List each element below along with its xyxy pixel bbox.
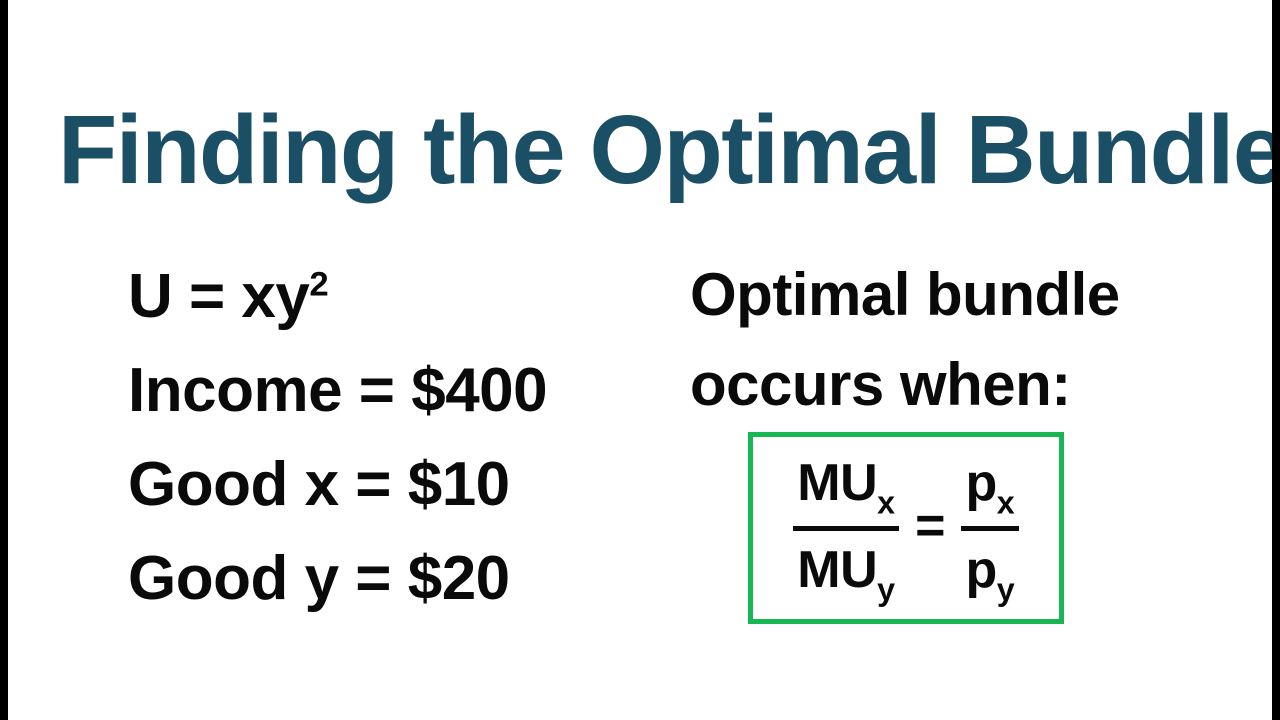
given-text: U = xy (128, 262, 309, 331)
mu-x-subscript: x (877, 484, 895, 520)
list-item: Good y = $20 (128, 532, 648, 626)
mu-x-base: MU (797, 454, 877, 512)
optimality-condition-box: MUx MUy = px py (748, 432, 1064, 624)
slide-canvas: Finding the Optimal Bundle U = xy2 Incom… (0, 0, 1280, 720)
slide-body: U = xy2 Income = $400 Good x = $10 Good … (0, 250, 1280, 680)
fraction-numerator: px (961, 455, 1018, 523)
list-item: Good x = $10 (128, 438, 648, 532)
fraction-bar (793, 526, 899, 531)
condition-heading-line-2: occurs when: (690, 340, 1210, 430)
given-text: Good y = $20 (128, 544, 510, 613)
mu-y-base: MU (797, 541, 877, 599)
condition-heading-line-1: Optimal bundle (690, 250, 1210, 340)
given-text: Good x = $10 (128, 450, 510, 519)
price-y-subscript: y (997, 571, 1015, 607)
equation: MUx MUy = px py (793, 455, 1018, 598)
pillarbox-bar-right (1272, 0, 1280, 720)
fraction-marginal-utility-ratio: MUx MUy (793, 455, 899, 598)
fraction-numerator: MUx (793, 455, 899, 523)
fraction-denominator: py (961, 532, 1018, 598)
list-item: Income = $400 (128, 344, 648, 438)
price-x-subscript: x (997, 484, 1015, 520)
fraction-price-ratio: px py (961, 455, 1018, 598)
givens-list: U = xy2 Income = $400 Good x = $10 Good … (128, 250, 648, 626)
condition-column: Optimal bundle occurs when: MUx MUy = px… (690, 250, 1210, 430)
given-exponent: 2 (309, 265, 328, 303)
equals-sign: = (909, 500, 951, 552)
givens-column: U = xy2 Income = $400 Good x = $10 Good … (128, 250, 648, 626)
pillarbox-bar-left (0, 0, 8, 720)
fraction-bar (961, 526, 1018, 531)
given-text: Income = $400 (128, 356, 547, 425)
price-y-base: p (965, 541, 996, 599)
list-item: U = xy2 (128, 250, 648, 344)
price-x-base: p (965, 454, 996, 512)
page-title: Finding the Optimal Bundle (58, 101, 1280, 198)
fraction-denominator: MUy (793, 532, 899, 598)
mu-y-subscript: y (877, 571, 895, 607)
